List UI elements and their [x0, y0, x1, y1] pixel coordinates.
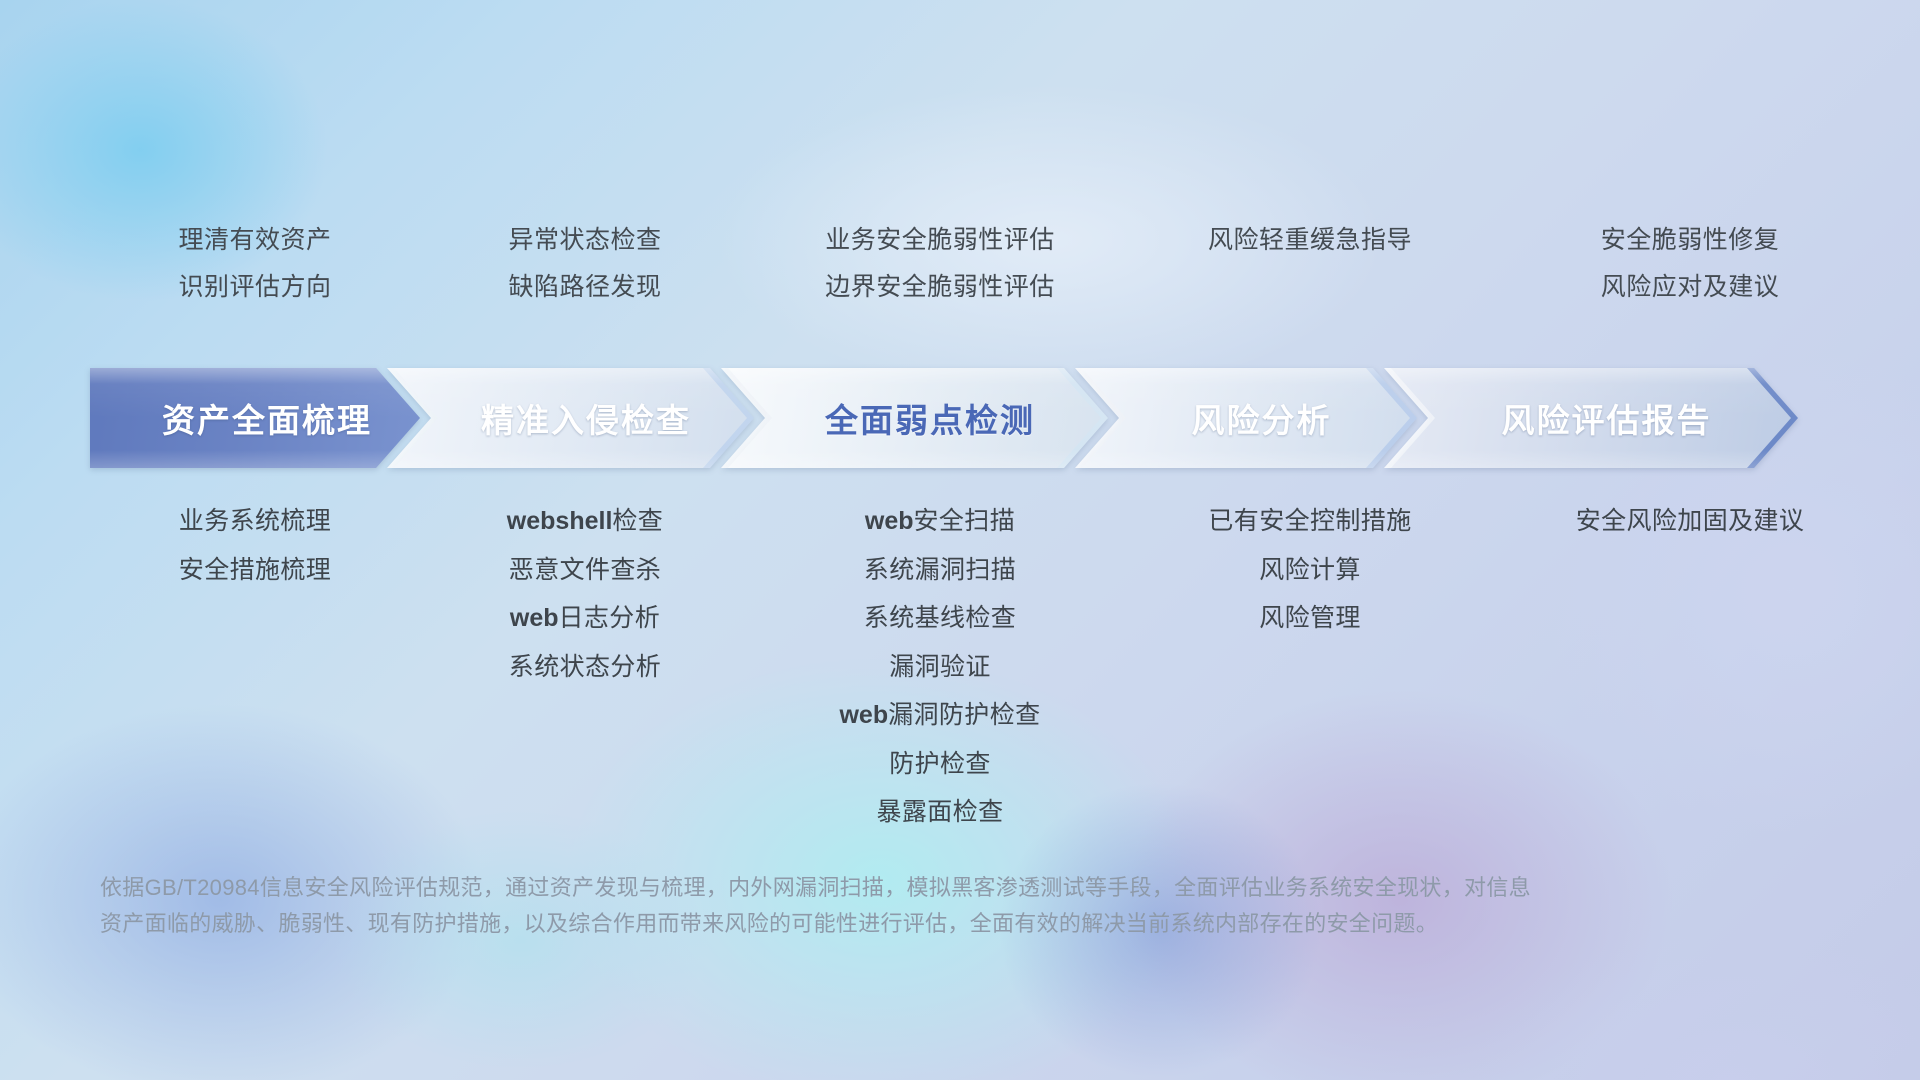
top-label: 边界安全脆弱性评估 [825, 272, 1055, 303]
process-chevron-band: 资产全面梳理 精准入侵检查 全面弱点检测 风险分析 [90, 368, 1850, 468]
bottom-labels-stage-4: 已有安全控制措施 风险计算 风险管理 [1125, 505, 1495, 635]
process-step-asset-inventory[interactable]: 资产全面梳理 [90, 368, 420, 468]
top-label: 理清有效资产 [178, 225, 331, 256]
bottom-labels-row: 业务系统梳理 安全措施梳理 webshell检查 恶意文件查杀 web日志分析 … [95, 505, 1885, 829]
process-step-weakness-detection[interactable]: 全面弱点检测 [728, 368, 1108, 468]
top-label: 安全脆弱性修复 [1601, 225, 1780, 256]
top-label: 识别评估方向 [178, 272, 331, 303]
detail-item: 系统基线检查 [864, 602, 1016, 635]
detail-item: 风险计算 [1259, 554, 1361, 587]
footnote-line: 资产面临的威胁、脆弱性、现有防护措施，以及综合作用而带来风险的可能性进行评估，全… [100, 906, 1840, 942]
top-labels-stage-3: 业务安全脆弱性评估 边界安全脆弱性评估 [755, 225, 1125, 335]
bottom-labels-stage-1: 业务系统梳理 安全措施梳理 [95, 505, 415, 586]
detail-item: web安全扫描 [865, 505, 1015, 538]
detail-item: webshell检查 [507, 505, 663, 538]
detail-item: 安全措施梳理 [179, 554, 331, 587]
bottom-labels-stage-2: webshell检查 恶意文件查杀 web日志分析 系统状态分析 [415, 505, 755, 683]
process-step-label: 精准入侵检查 [457, 394, 691, 442]
top-label: 风险应对及建议 [1601, 272, 1780, 303]
detail-item: 安全风险加固及建议 [1576, 505, 1805, 538]
top-label: 风险轻重缓急指导 [1208, 225, 1412, 256]
top-label: 缺陷路径发现 [508, 272, 661, 303]
detail-item: 风险管理 [1259, 602, 1361, 635]
top-labels-stage-4: 风险轻重缓急指导 [1125, 225, 1495, 335]
detail-item: 系统状态分析 [509, 651, 661, 684]
footnote-paragraph: 依据GB/T20984信息安全风险评估规范，通过资产发现与梳理，内外网漏洞扫描，… [100, 870, 1840, 941]
process-step-label: 风险分析 [1168, 394, 1332, 442]
top-labels-stage-2: 异常状态检查 缺陷路径发现 [415, 225, 755, 335]
footnote-line: 依据GB/T20984信息安全风险评估规范，通过资产发现与梳理，内外网漏洞扫描，… [100, 870, 1840, 906]
diagram-canvas: 理清有效资产 识别评估方向 异常状态检查 缺陷路径发现 业务安全脆弱性评估 边界… [0, 0, 1920, 1080]
top-labels-row: 理清有效资产 识别评估方向 异常状态检查 缺陷路径发现 业务安全脆弱性评估 边界… [95, 225, 1885, 335]
top-label: 业务安全脆弱性评估 [825, 225, 1055, 256]
detail-item: 漏洞验证 [889, 651, 991, 684]
detail-item: 暴露面检查 [876, 796, 1003, 829]
detail-item: 已有安全控制措施 [1208, 505, 1411, 538]
bottom-labels-stage-5: 安全风险加固及建议 [1495, 505, 1885, 538]
detail-item: 恶意文件查杀 [509, 554, 661, 587]
process-step-risk-analysis[interactable]: 风险分析 [1082, 368, 1417, 468]
detail-item: web漏洞防护检查 [839, 699, 1040, 732]
process-step-label: 全面弱点检测 [801, 394, 1035, 442]
top-labels-stage-5: 安全脆弱性修复 风险应对及建议 [1495, 225, 1885, 335]
detail-item: web日志分析 [510, 602, 660, 635]
bottom-labels-stage-3: web安全扫描 系统漏洞扫描 系统基线检查 漏洞验证 web漏洞防护检查 防护检… [755, 505, 1125, 829]
process-step-intrusion-check[interactable]: 精准入侵检查 [394, 368, 754, 468]
top-label: 异常状态检查 [508, 225, 661, 256]
detail-item: 业务系统梳理 [179, 505, 331, 538]
process-step-label: 风险评估报告 [1478, 394, 1712, 442]
top-labels-stage-1: 理清有效资产 识别评估方向 [95, 225, 415, 335]
process-step-label: 资产全面梳理 [138, 394, 372, 442]
process-step-risk-report[interactable]: 风险评估报告 [1391, 368, 1798, 468]
detail-item: 防护检查 [889, 748, 991, 781]
detail-item: 系统漏洞扫描 [864, 554, 1016, 587]
